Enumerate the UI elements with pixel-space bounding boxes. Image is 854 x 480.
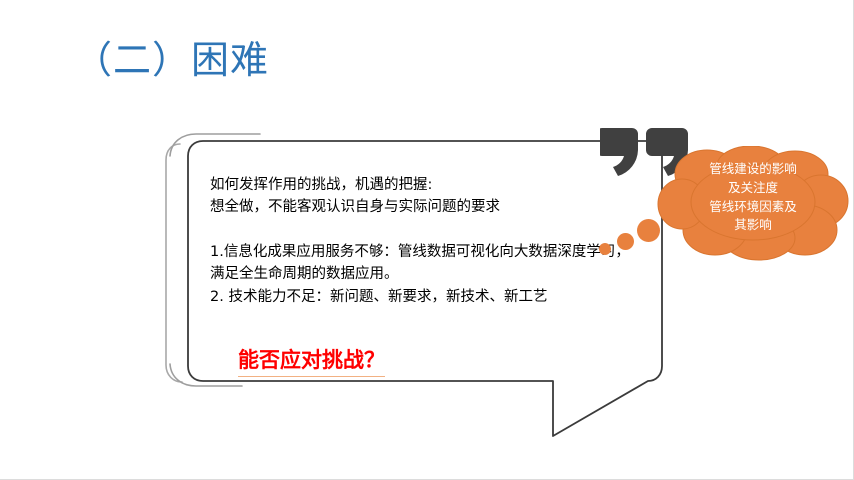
trail-dot (599, 243, 611, 255)
trail-dot (617, 233, 634, 250)
bubble-lead-paragraph: 如何发挥作用的挑战，机遇的把握: 想全做，不能客观认识自身与实际问题的要求 (210, 174, 630, 219)
bubble-items-paragraph: 1.信息化成果应用服务不够：管线数据可视化向大数据深度学习，满足全生命周期的数据… (210, 241, 630, 308)
cloud-callout-text: 管线建设的影响 及关注度 管线环境因素及 其影响 (663, 160, 843, 235)
emphasis-question-text: 能否应对挑战？ (238, 344, 385, 377)
trail-dot (637, 219, 660, 242)
bubble-body-text: 如何发挥作用的挑战，机遇的把握: 想全做，不能客观认识自身与实际问题的要求 1.… (210, 174, 630, 308)
slide-canvas: （二）困难 如何发挥作用的挑战，机遇的把握: 想全做，不能客观认识自身与实际问题… (0, 0, 854, 480)
page-title: （二）困难 (74, 38, 269, 84)
